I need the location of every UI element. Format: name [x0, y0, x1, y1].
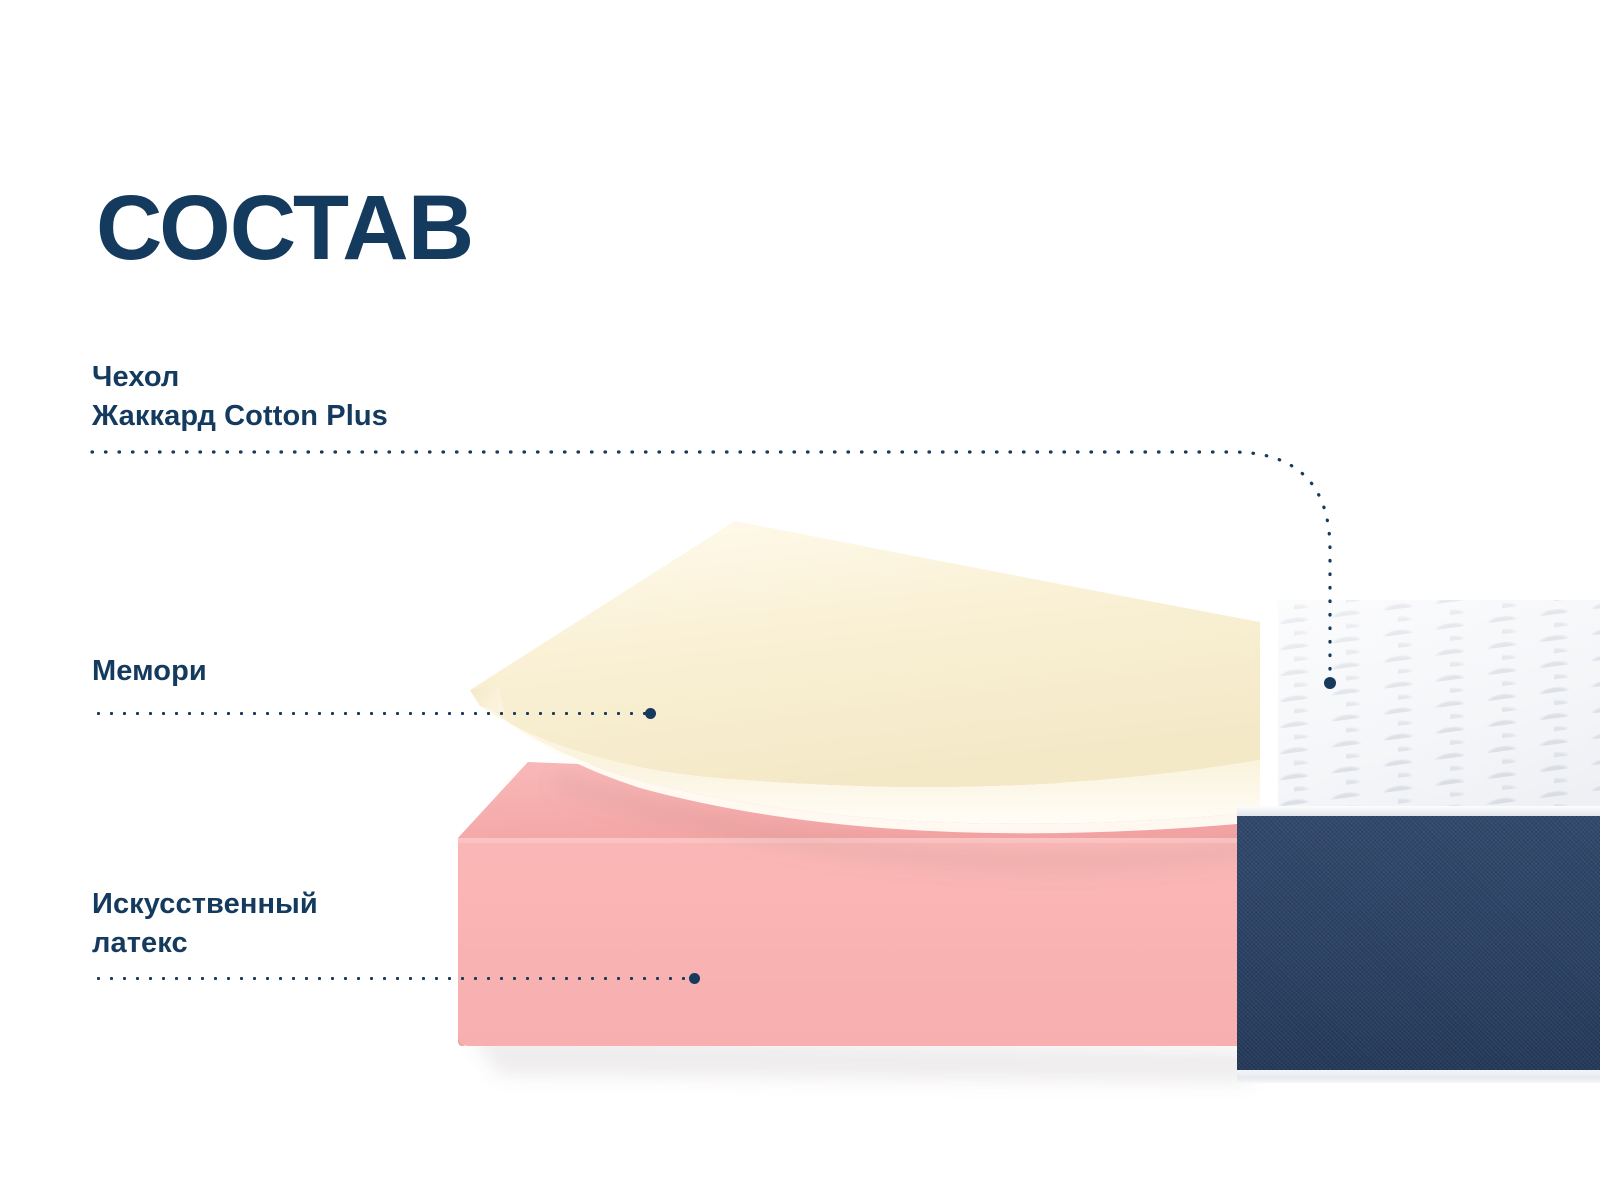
cover-piping-bottom — [1237, 1070, 1600, 1083]
callout-cover: Чехол Жаккард Cotton Plus — [92, 358, 388, 436]
leader-latex-endpoint-dot — [689, 973, 700, 984]
slide-canvas: DIMAX ЗДОРОВЫЙ СОН СОСТАВ Чехол Жаккард … — [0, 0, 1600, 1201]
leader-memory-endpoint-dot — [645, 708, 656, 719]
mattress-side-band: DIMAX ЗДОРОВЫЙ СОН — [1237, 816, 1600, 1070]
leader-latex-dots — [92, 977, 696, 980]
callout-latex: Искусственный латекс — [92, 885, 318, 963]
leader-line-memory — [92, 710, 652, 717]
callout-latex-label: Искусственный латекс — [92, 885, 318, 963]
leader-cover-path — [92, 452, 1330, 678]
leader-line-cover — [92, 440, 1352, 700]
leader-cover-endpoint-dot — [1324, 677, 1336, 689]
callout-memory: Мемори — [92, 652, 207, 691]
callout-memory-label: Мемори — [92, 652, 207, 691]
callout-cover-label: Чехол Жаккард Cotton Plus — [92, 358, 388, 436]
leader-memory-dots — [92, 712, 652, 715]
page-title: СОСТАВ — [96, 182, 473, 274]
leader-line-latex — [92, 975, 696, 982]
